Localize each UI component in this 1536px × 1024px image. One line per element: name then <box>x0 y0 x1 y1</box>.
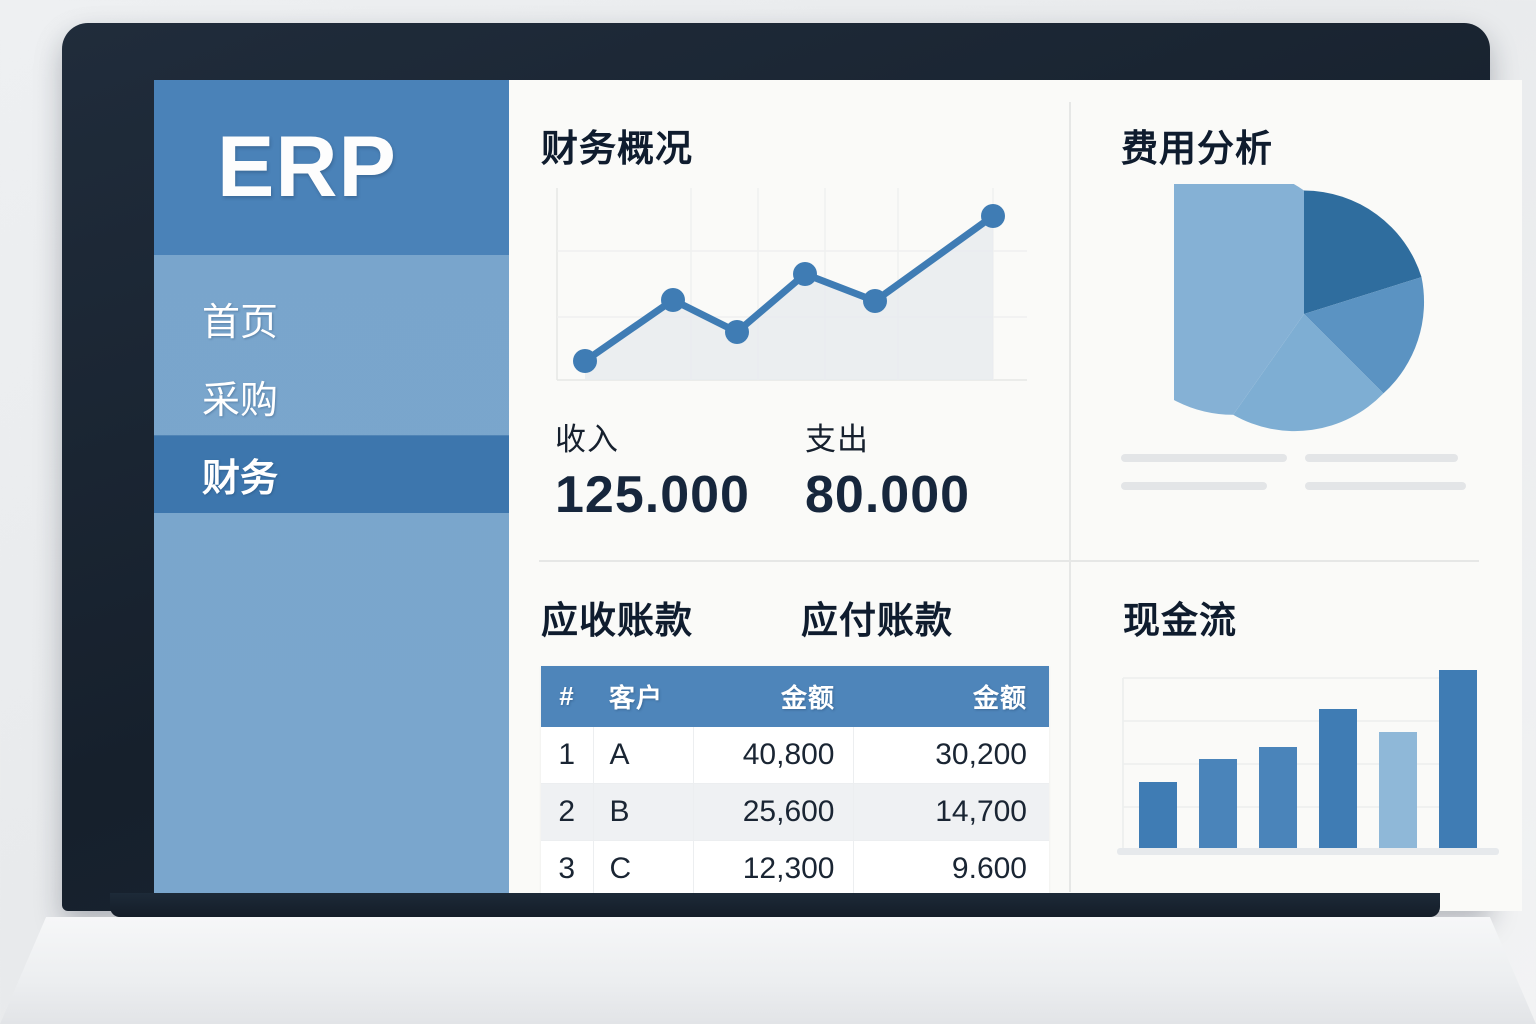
line-chart-point <box>661 288 685 312</box>
kpi-label: 支出 <box>805 414 1055 459</box>
sidebar-item-finance[interactable]: 财务 <box>154 435 509 513</box>
panel-expense-analysis: 费用分析 <box>1109 118 1509 548</box>
panel-cash-flow: 现金流 <box>1109 590 1509 890</box>
cell-customer: C <box>593 841 693 898</box>
bar <box>1259 747 1297 848</box>
laptop-mockup: ERP 首页 采购 财务 <box>0 0 1536 1024</box>
table-row[interactable]: 1 A 40,800 30,200 <box>541 727 1049 784</box>
line-chart-point <box>793 262 817 286</box>
cell-index: 1 <box>541 727 593 784</box>
line-chart-svg <box>553 184 1033 394</box>
bar <box>1199 759 1237 848</box>
line-chart-point <box>573 349 597 373</box>
bar-chart-baseline <box>1117 848 1499 855</box>
bar <box>1319 709 1357 848</box>
cell-payable: 30,200 <box>853 727 1049 784</box>
dashboard-content: 财务概况 <box>509 80 1522 911</box>
brand-label: ERP <box>217 118 397 217</box>
kpi-row: 收入 125.000 支出 80.000 <box>555 414 1055 525</box>
sidebar-item-label: 财务 <box>202 447 278 502</box>
sidebar-item-label: 采购 <box>202 369 278 424</box>
accounts-table: # 客户 金额 金额 1 A 40,800 30,200 <box>541 666 1049 898</box>
bar-chart-svg <box>1117 648 1499 866</box>
bar-chart <box>1117 648 1499 866</box>
legend-skeleton-bar <box>1121 482 1267 490</box>
table-row[interactable]: 2 B 25,600 14,700 <box>541 784 1049 841</box>
col-header-payable-amount[interactable]: 金额 <box>853 666 1049 727</box>
kpi-income: 收入 125.000 <box>555 414 805 525</box>
kpi-value: 80.000 <box>805 465 1055 525</box>
line-chart-point <box>981 204 1005 228</box>
panel-accounts: 应收账款 应付账款 # 客户 金额 金额 <box>541 590 1061 890</box>
kpi-label: 收入 <box>555 414 805 459</box>
horizontal-divider <box>539 560 1479 562</box>
bar <box>1379 732 1417 848</box>
line-chart <box>553 184 1033 394</box>
panel-title-cash-flow: 现金流 <box>1123 590 1509 644</box>
line-chart-area <box>585 216 993 380</box>
legend-skeleton-bar <box>1305 482 1466 490</box>
vertical-divider <box>1069 102 1071 892</box>
sidebar-nav: 首页 采购 财务 <box>154 255 509 513</box>
legend-skeleton-bar <box>1305 454 1458 462</box>
panel-title-expense-analysis: 费用分析 <box>1121 118 1509 172</box>
col-header-receivable-amount[interactable]: 金额 <box>693 666 853 727</box>
screen: ERP 首页 采购 财务 <box>154 80 1522 911</box>
panel-title-financial-overview: 财务概况 <box>541 118 1061 172</box>
pie-legend-placeholder <box>1121 454 1471 490</box>
panel-title-payables: 应付账款 <box>801 590 1061 644</box>
cell-payable: 14,700 <box>853 784 1049 841</box>
table-body: 1 A 40,800 30,200 2 B 25,600 14,700 <box>541 727 1049 898</box>
app-brand: ERP <box>154 80 509 255</box>
laptop-base <box>0 917 1536 1024</box>
table-row[interactable]: 3 C 12,300 9.600 <box>541 841 1049 898</box>
cell-customer: A <box>593 727 693 784</box>
col-header-customer[interactable]: 客户 <box>593 666 693 727</box>
cell-payable: 9.600 <box>853 841 1049 898</box>
kpi-expense: 支出 80.000 <box>805 414 1055 525</box>
kpi-value: 125.000 <box>555 465 805 525</box>
cell-receivable: 12,300 <box>693 841 853 898</box>
panel-title-receivables: 应收账款 <box>541 590 801 644</box>
pie-chart <box>1119 184 1489 444</box>
panel-financial-overview: 财务概况 <box>541 118 1061 548</box>
laptop-lid: ERP 首页 采购 财务 <box>62 23 1490 911</box>
sidebar-item-home[interactable]: 首页 <box>154 279 509 357</box>
bar <box>1139 782 1177 848</box>
line-chart-point <box>863 289 887 313</box>
legend-skeleton-bar <box>1121 454 1287 462</box>
table-header-row: # 客户 金额 金额 <box>541 666 1049 727</box>
cell-receivable: 40,800 <box>693 727 853 784</box>
accounts-titles: 应收账款 应付账款 <box>541 590 1061 644</box>
sidebar-item-purchasing[interactable]: 采购 <box>154 357 509 435</box>
cell-receivable: 25,600 <box>693 784 853 841</box>
sidebar-item-label: 首页 <box>202 291 278 346</box>
cell-index: 3 <box>541 841 593 898</box>
cell-index: 2 <box>541 784 593 841</box>
bar <box>1439 670 1477 848</box>
line-chart-point <box>725 320 749 344</box>
sidebar: ERP 首页 采购 财务 <box>154 80 509 911</box>
laptop-hinge-lip <box>110 893 1440 917</box>
cell-customer: B <box>593 784 693 841</box>
col-header-index[interactable]: # <box>541 666 593 727</box>
pie-chart-svg <box>1174 184 1434 444</box>
